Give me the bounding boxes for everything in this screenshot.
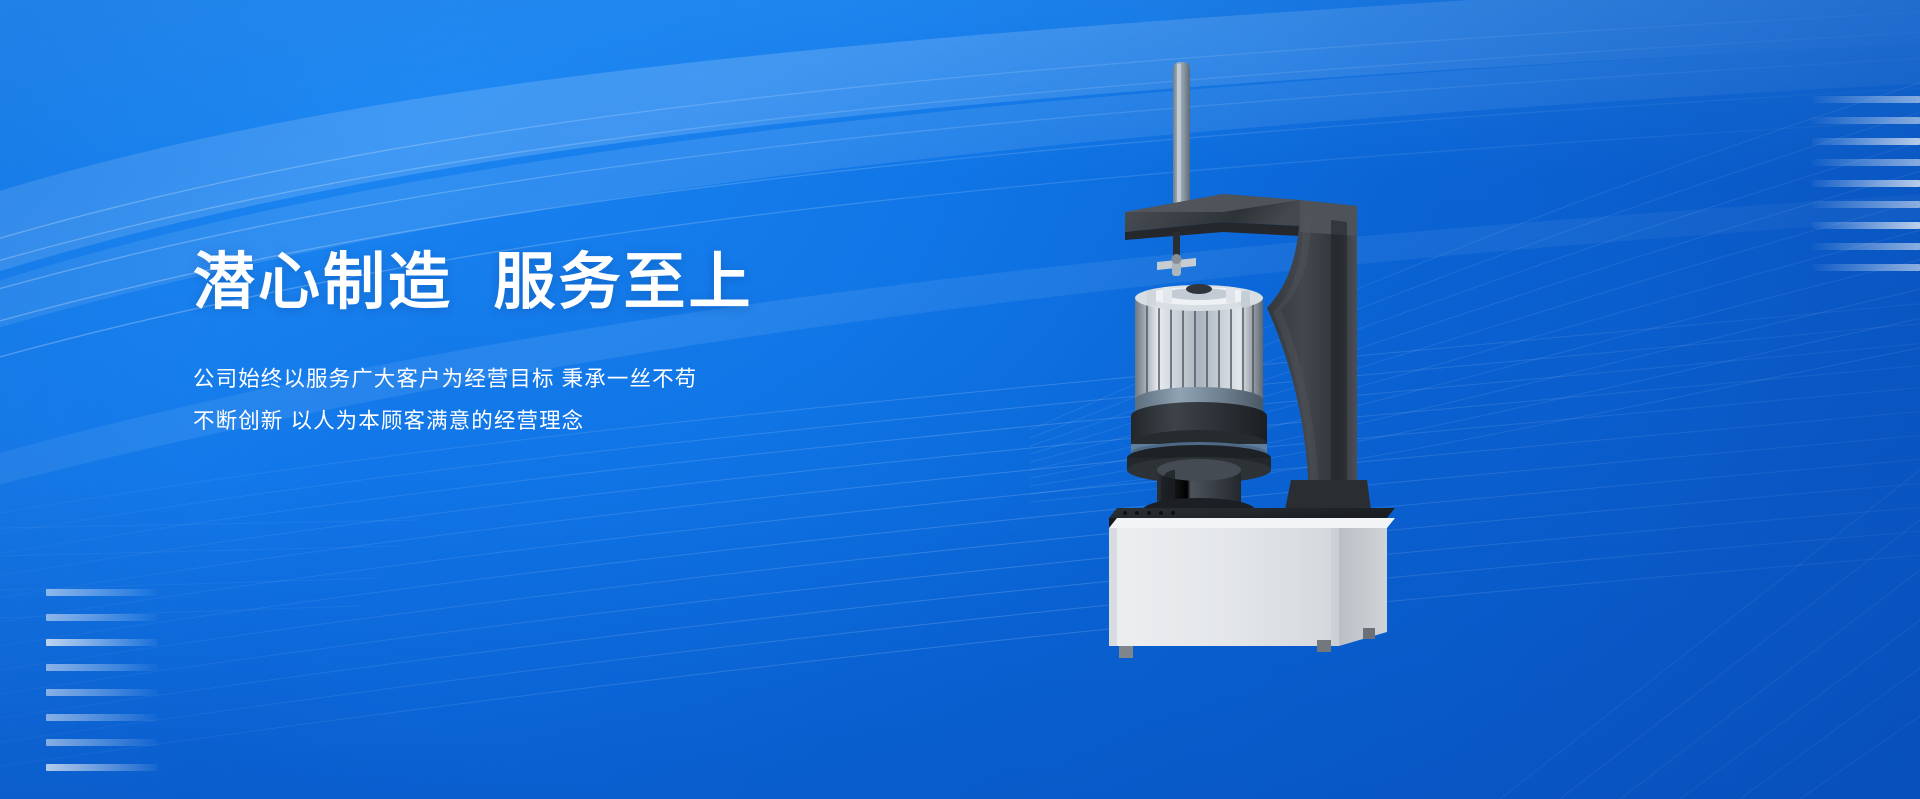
hero-banner: 潜心制造 服务至上 公司始终以服务广大客户为经营目标 秉承一丝不苟 不断创新 以… [0, 0, 1920, 799]
background-vignette [0, 0, 1920, 799]
